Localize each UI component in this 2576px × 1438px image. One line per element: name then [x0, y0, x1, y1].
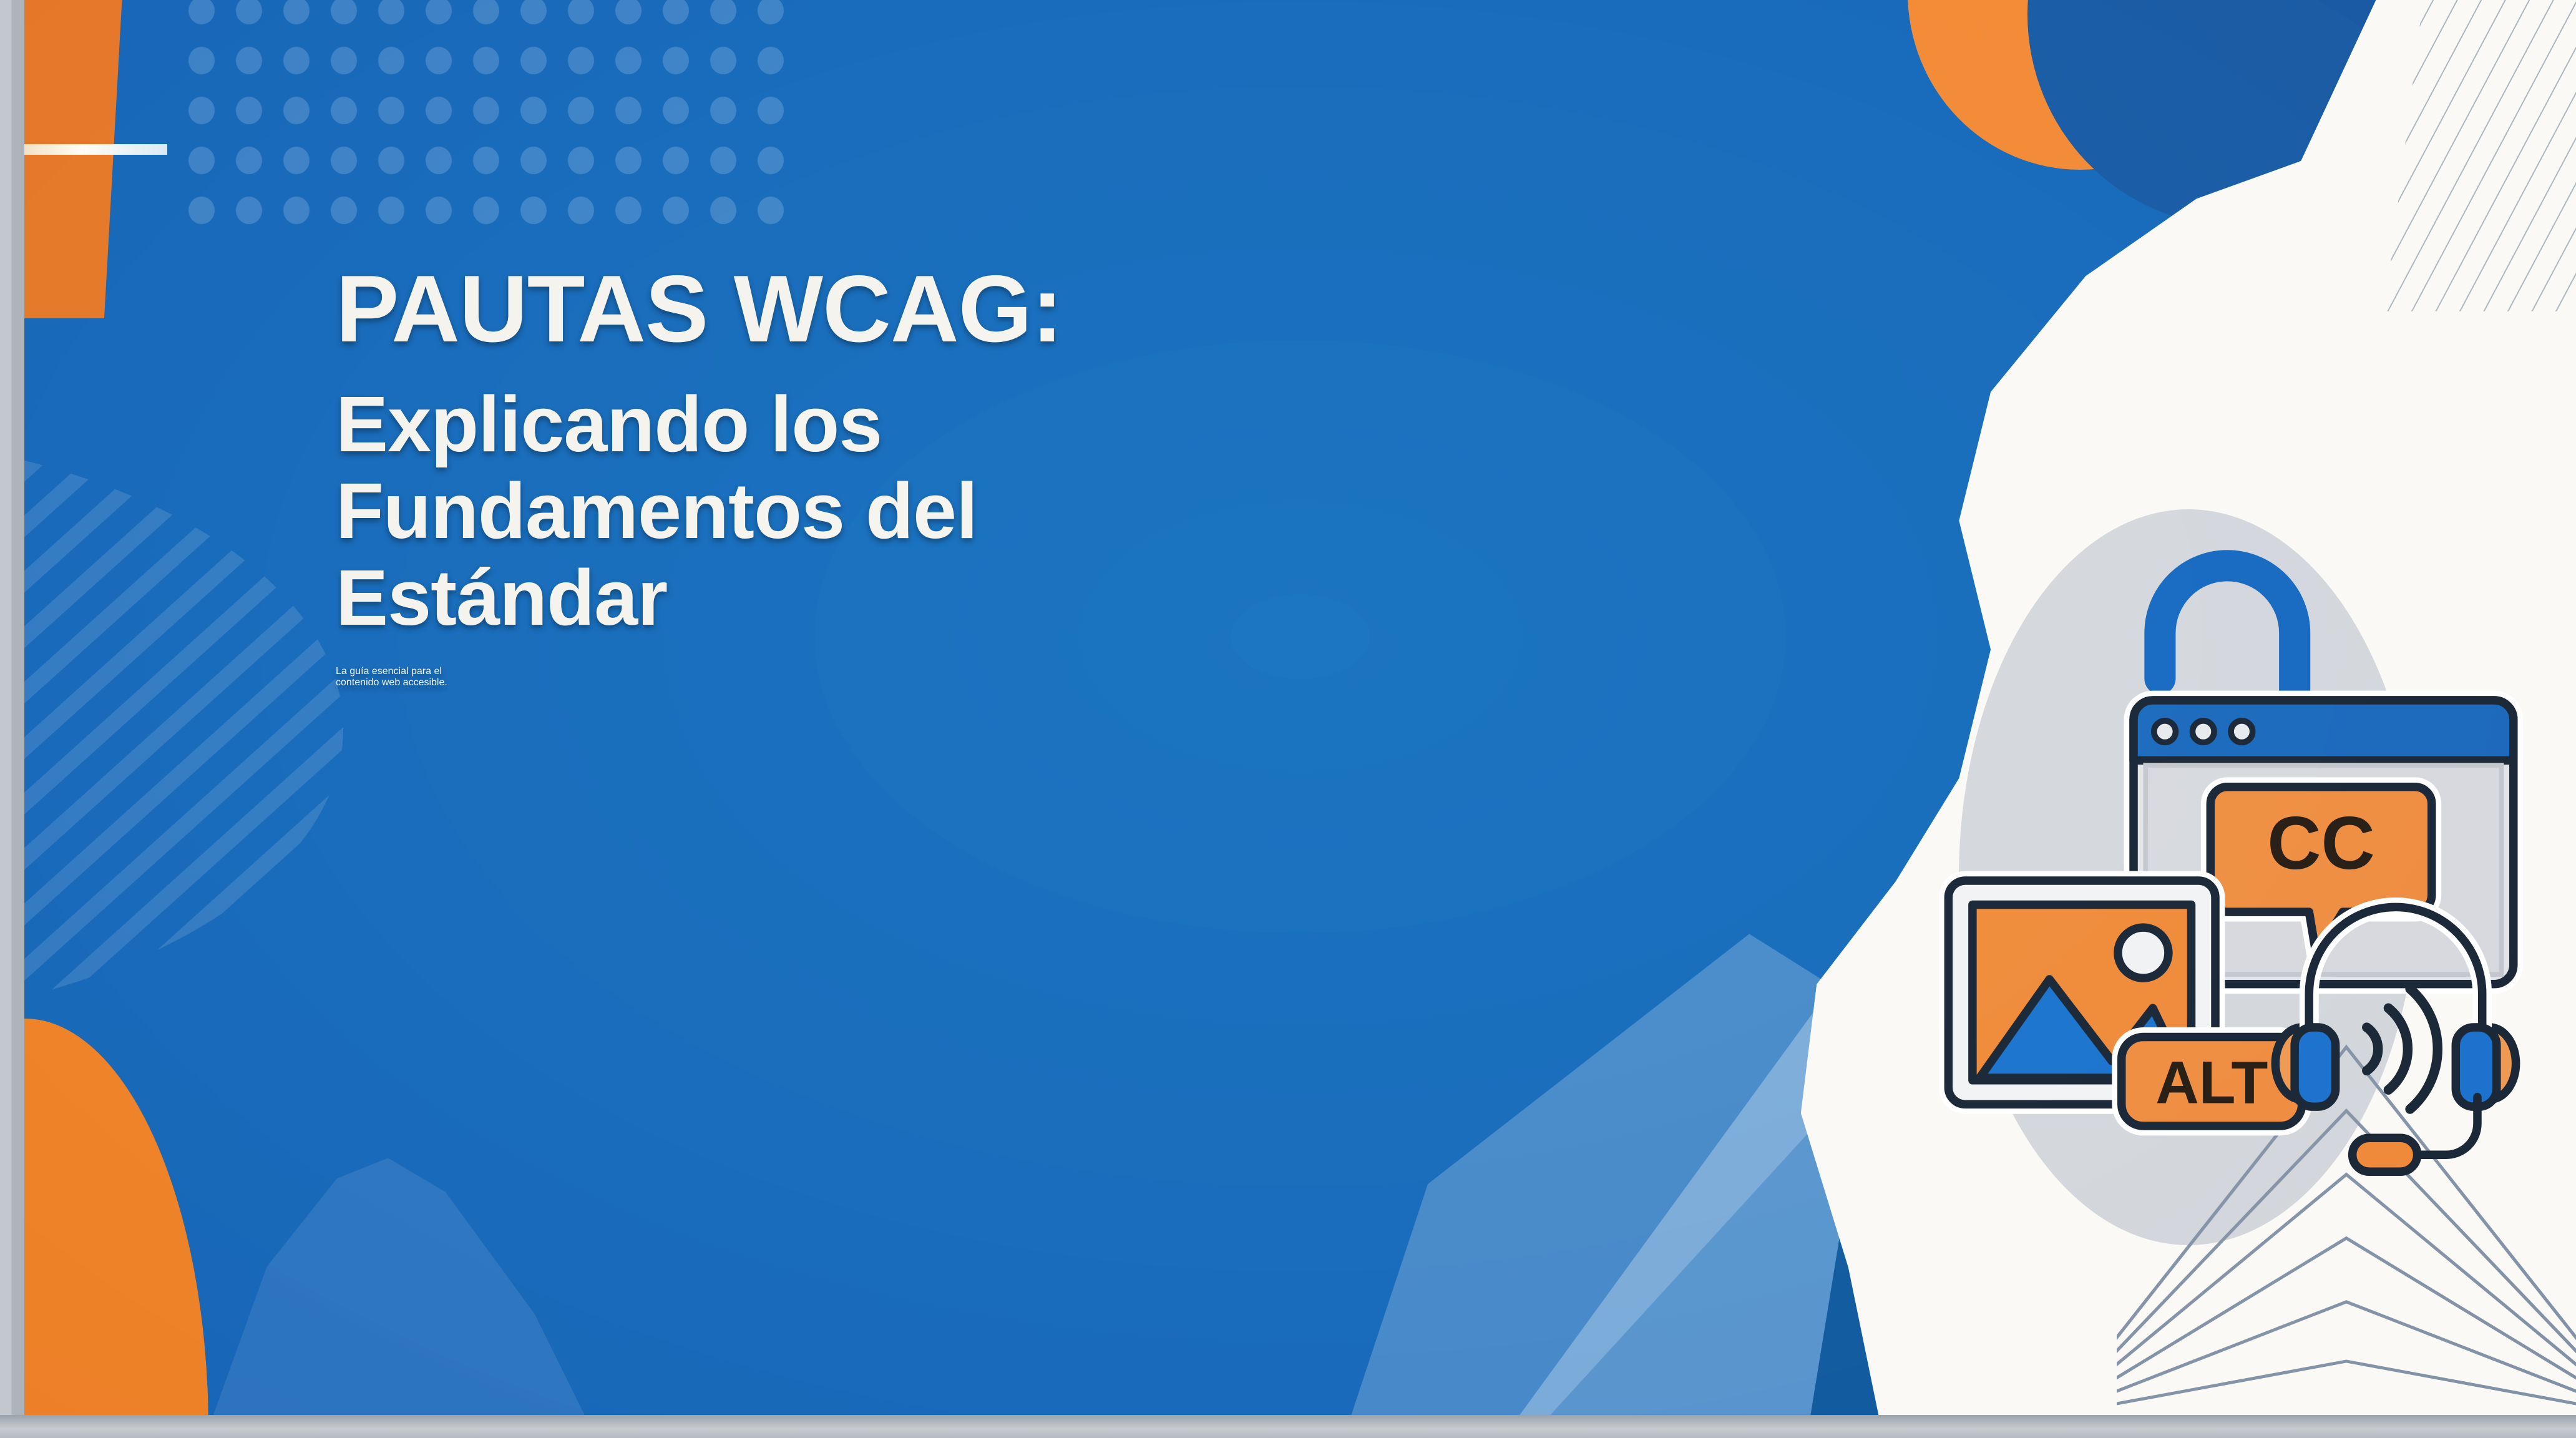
striped-half-disc	[24, 431, 343, 1025]
tagline-line-1: La guía esencial para el	[336, 666, 1611, 677]
light-blue-wave-shape	[203, 1103, 841, 1415]
padlock-icon	[2160, 565, 2295, 700]
white-rule-line	[24, 144, 167, 155]
cc-label: CC	[2267, 802, 2375, 885]
page-subtitle: Explicando los Fundamentos del Estándar	[336, 381, 1611, 641]
accessibility-illustration: .ol{stroke:#1d2b3c;stroke-width:7;stroke…	[1905, 396, 2530, 1274]
orange-band-top-left	[24, 0, 124, 318]
subtitle-line-1: Explicando los	[336, 381, 1611, 468]
tagline-line-2: contenido web accesible.	[336, 677, 1611, 688]
slide-frame: PAUTAS WCAG: Explicando los Fundamentos …	[0, 0, 2576, 1438]
sound-wave-icon	[2366, 989, 2437, 1109]
page-title: PAUTAS WCAG:	[336, 262, 1611, 356]
alt-label: ALT	[2155, 1049, 2268, 1116]
orange-quarter-circle-bottom-left	[24, 1019, 208, 1415]
microphone-icon	[2352, 1138, 2417, 1171]
slide-canvas: PAUTAS WCAG: Explicando los Fundamentos …	[24, 0, 2576, 1415]
headline-block: PAUTAS WCAG: Explicando los Fundamentos …	[336, 262, 1611, 688]
window-controls-icon	[2154, 721, 2252, 743]
slide-bottom-edge	[0, 1415, 2576, 1438]
subtitle-line-2: Fundamentos del	[336, 468, 1611, 555]
dot-grid-pattern	[178, 0, 790, 240]
subtitle-line-3: Estándar	[336, 555, 1611, 642]
